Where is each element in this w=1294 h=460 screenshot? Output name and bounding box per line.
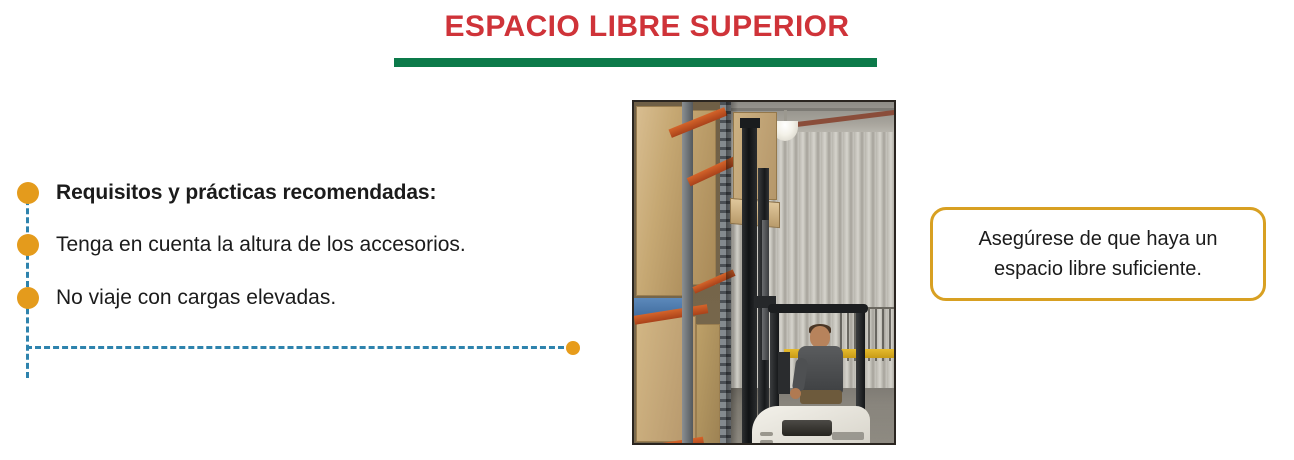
connector-line-vertical [26, 190, 29, 378]
overhead-guard-roof [768, 304, 868, 313]
bullet-dot-icon [17, 234, 39, 256]
title-block: ESPACIO LIBRE SUPERIOR [0, 8, 1294, 46]
page-title: ESPACIO LIBRE SUPERIOR [0, 8, 1294, 46]
connector-line-horizontal [26, 346, 573, 349]
carton [690, 110, 716, 285]
title-underline-bar [394, 58, 877, 67]
ceiling-pipe [714, 108, 896, 111]
operator-head [810, 326, 830, 348]
bullet-dot-icon [17, 287, 39, 309]
list-item-label: Tenga en cuenta la altura de los accesor… [56, 230, 466, 260]
forklift-control-panel [782, 420, 832, 436]
connector-end-dot-icon [566, 341, 580, 355]
carton [696, 324, 720, 444]
forklift-vent [760, 432, 773, 436]
warehouse-forklift-photo [632, 100, 896, 445]
callout-text: Asegúrese de que haya un espacio libre s… [959, 224, 1237, 284]
forklift-brand-logo [832, 432, 864, 440]
callout-box: Asegúrese de que haya un espacio libre s… [930, 207, 1266, 301]
forklift-vent [760, 440, 773, 444]
list-item-label: Requisitos y prácticas recomendadas: [56, 178, 436, 208]
requirements-list: Requisitos y prácticas recomendadas: Ten… [0, 160, 620, 370]
forklift-mast-cap [740, 118, 760, 128]
operator-hand [790, 388, 801, 399]
operator-belt [800, 390, 842, 404]
overhead-guard-post [856, 308, 865, 420]
rack-upright [682, 102, 693, 443]
photo-canvas [634, 102, 894, 443]
forklift-mast [742, 120, 757, 445]
bullet-dot-icon [17, 182, 39, 204]
forklift-lift-cylinder [762, 220, 769, 360]
overhead-guard-brace [778, 352, 790, 394]
list-item-label: No viaje con cargas elevadas. [56, 283, 336, 313]
